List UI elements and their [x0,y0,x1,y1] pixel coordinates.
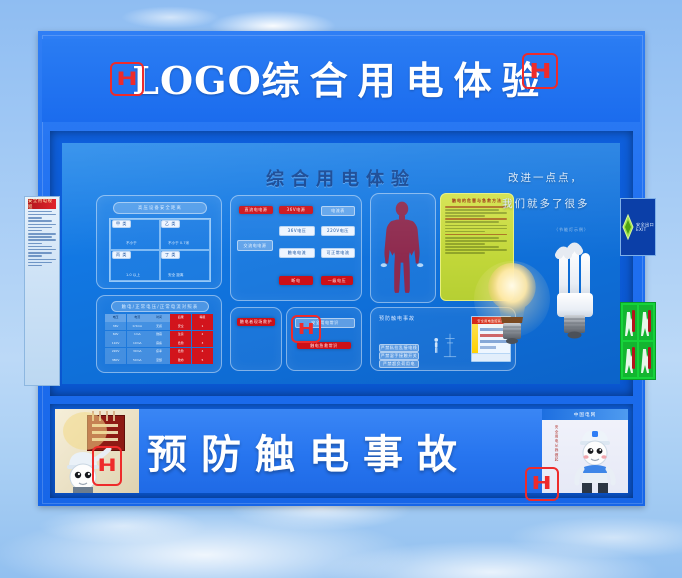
table-cell: 微麻 [148,331,169,339]
bottom-banner: 预防触电事故 中国电网 安全用电从我做起 [55,409,628,493]
mascot-left-figure [55,409,139,493]
table-cell: 麻痛 [148,339,169,347]
header-title-text: 综合用电体验 [262,59,550,103]
table-cell: 5 [192,356,213,364]
console-button-normal-current[interactable]: 可正常电流 [321,248,355,258]
rescue-panel-left-label: 触电者现场救护 [237,318,275,326]
grid-label-3: 丁 类 [161,251,180,259]
left-grid-header: 高压设备安全距离 [113,202,207,214]
table-cell: 10mA [127,339,148,347]
grid-note-1: 不小于 0.7米 [168,241,189,246]
table-cell: 1mA [127,331,148,339]
safety-knowledge-subtitle: 触电急救常识 [297,342,351,349]
table-header-cell: 等级 [192,314,213,322]
hazard-info-title: 触电的危害与急救方法 [445,198,509,204]
table-cell: 注意 [170,331,191,339]
console-button-level-one[interactable]: 一级电压 [321,276,353,285]
slogan-line-2: 我们就多了很多 [502,195,590,214]
left-poster-header: 安全用电规程 [28,199,56,209]
grid-label-1: 乙 类 [161,220,180,228]
human-body-silhouette [376,197,428,297]
console-button-ammeter[interactable]: 电流表 [321,206,355,216]
table-header-cell: 电流 [127,314,148,322]
screenshot-root: LOGO综合用电体验 H H 综合用电体验 高压设备安全距离 甲 类 乙 类 丙… [0,0,682,578]
table-header-cell: 后果 [170,314,191,322]
table-cell: 致命 [170,356,191,364]
prevention-panel-title: 预防触电事故 [379,315,415,322]
safety-knowledge-panel: 安全用电常识 触电急救常识 [286,307,362,371]
incandescent-bulb [474,261,550,344]
table-cell: 2 [192,331,213,339]
grid-note-0: 不小于 [126,241,137,246]
table-header-cell: 电压 [105,314,126,322]
exit-arrow-icon [622,214,634,240]
mascot-right: 中国电网 安全用电从我做起 [542,409,628,493]
compact-fluorescent-bulb [557,247,593,339]
voltage-table-panel: 触电/正常电压/正常电流对照表 电压 电流 时间 后果 等级 36V 0.5mA… [96,295,222,373]
table-cell: 220V [105,348,126,356]
bulbs-svg [464,231,620,384]
rescue-panel-left: 触电者现场救护 [230,307,282,371]
left-grid-panel: 高压设备安全距离 甲 类 乙 类 丙 类 丁 类 不小于 不小于 0.7米 1.… [96,195,222,289]
table-cell: 安全 [170,322,191,330]
table-cell: 危险 [170,339,191,347]
voltage-table-header: 触电/正常电压/正常电流对照表 [111,301,209,312]
left-safety-poster: 安全用电规程 [24,196,60,386]
bulb-illustration-area [464,231,620,384]
safety-knowledge-title: 安全用电常识 [295,318,355,328]
prevention-note-0: 严禁私拉乱接电线 [379,344,419,352]
table-cell: 室颤 [148,356,169,364]
slogan-line-1: 改进一点点， [508,169,583,188]
console-button-dc-source[interactable]: 直流电电源 [239,206,273,214]
banner-title: 预防触电事故 [147,409,471,493]
table-cell: 1 [192,322,213,330]
table-cell: 3 [192,339,213,347]
grid-note-2: 1.0 以上 [126,273,140,278]
table-header-cell: 时间 [148,314,169,322]
prevention-note-2: 严禁超负荷用电 [379,360,419,368]
table-cell: 无感 [148,322,169,330]
exit-sign-blue: 安全出口 EXIT [620,198,656,256]
table-cell: 危险 [170,348,191,356]
running-man-exit-icon [622,304,654,378]
grid-note-3: 安全 距离 [168,273,184,278]
exit-sign-line2: EXIT [636,227,654,232]
table-cell: 60V [105,331,126,339]
voltage-table: 电压 电流 时间 后果 等级 36V 0.5mA 无感 安全 1 60V 1mA… [105,314,213,364]
header-logo-text: LOGO [132,58,261,103]
table-cell: 0.5mA [127,322,148,330]
prevention-note-1: 严禁湿手接触开关 [379,352,419,360]
mascot-right-figure [542,409,628,493]
header-band: LOGO综合用电体验 [42,39,640,122]
header-title: LOGO综合用电体验 [132,62,549,100]
table-cell: 30mA [127,348,148,356]
table-cell: 380V [105,356,126,364]
table-cell: 痉挛 [148,348,169,356]
table-cell: 50mA [127,356,148,364]
console-button-power-off[interactable]: 断电 [279,276,313,285]
table-cell: 4 [192,348,213,356]
table-cell: 110V [105,339,126,347]
console-button-220v-voltage[interactable]: 220V电压 [321,226,355,236]
console-button-36v-voltage[interactable]: 36V电压 [279,226,315,236]
exhibition-board: 综合用电体验 高压设备安全距离 甲 类 乙 类 丙 类 丁 类 不小于 不小于 … [62,143,620,384]
console-button-36v-source[interactable]: 36V电源 [279,206,313,214]
grid-label-2: 丙 类 [112,251,131,259]
grid-label-0: 甲 类 [112,220,131,228]
mascot-left [55,409,139,493]
emergency-exit-sign-green [620,302,656,380]
table-cell: 36V [105,322,126,330]
control-console-panel: 直流电电源 36V电源 电流表 交流电电源 36V电压 220V电压 触电电流 … [230,195,362,301]
console-button-ac-source[interactable]: 交流电电源 [237,240,273,251]
console-button-shock-current[interactable]: 触电电流 [279,248,315,258]
